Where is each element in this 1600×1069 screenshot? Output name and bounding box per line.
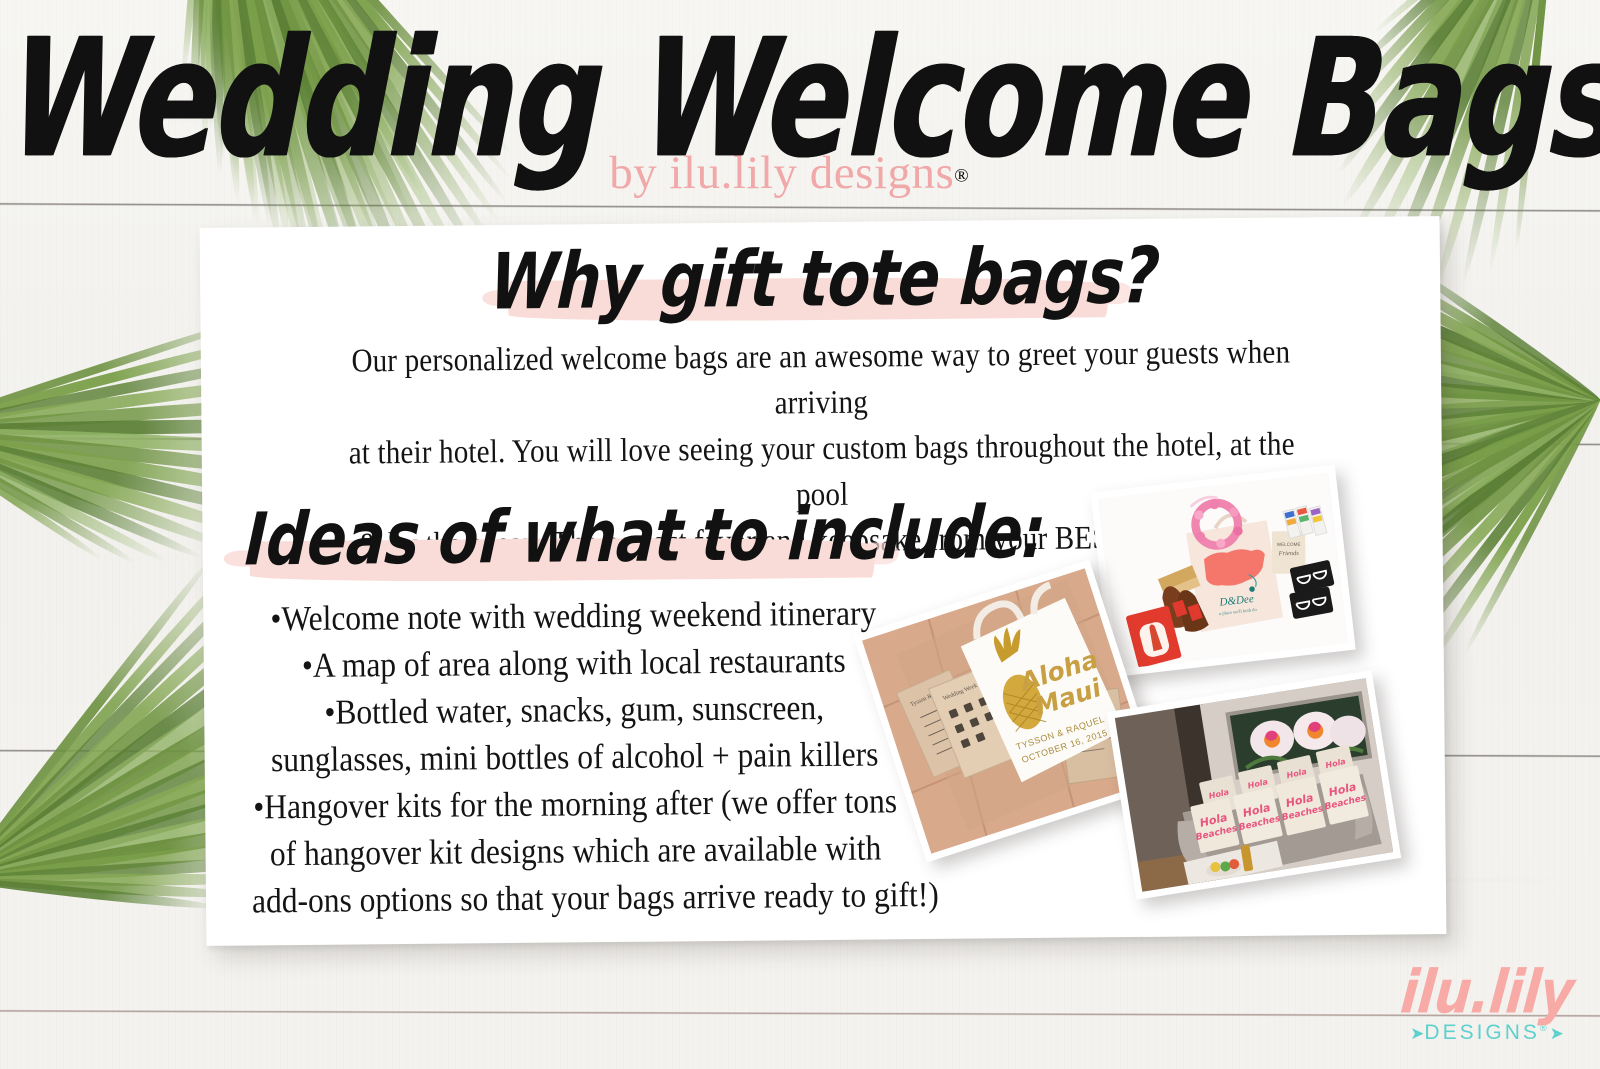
logo-script-text: ilu.lily — [1389, 963, 1584, 1023]
flat-lay-photo-graphic: D&Dee a place we'll both do WELCOME Frie… — [1098, 472, 1348, 669]
ilulily-logo[interactable]: ilu.lily ➤DESIGNS®➤ — [1392, 967, 1582, 1063]
intro-paragraph-line-1: Our personalized welcome bags are an awe… — [328, 329, 1314, 430]
section-heading-ideas: Ideas of what to include: — [227, 499, 928, 574]
section-heading-why-gift: Why gift tote bags? — [490, 239, 1151, 318]
registered-mark-icon: ® — [954, 166, 968, 187]
list-item: •Hangover kits for the morning after (we… — [251, 777, 899, 830]
poster-root: Wedding Welcome Bags by ilu.lily designs… — [0, 0, 1600, 1069]
brand-byline: by ilu.lily designs® — [0, 146, 1600, 200]
svg-text:Friends: Friends — [1278, 550, 1300, 557]
flat-lay-welcome-bag-photo: D&Dee a place we'll both do WELCOME Frie… — [1090, 465, 1355, 678]
ideas-list: •Welcome note with wedding weekend itine… — [249, 589, 900, 924]
list-item: •Bottled water, snacks, gum, sunscreen, — [250, 683, 898, 736]
list-item: •Welcome note with wedding weekend itine… — [249, 589, 897, 642]
brand-byline-text: by ilu.lily designs — [609, 147, 954, 199]
svg-text:WELCOME: WELCOME — [1277, 542, 1301, 547]
hola-beaches-photo-graphic: Hola Hola Hola Hola Hola Beaches Hola Be — [1115, 678, 1393, 892]
list-item: sunglasses, mini bottles of alcohol + pa… — [250, 730, 898, 783]
section-heading-ideas-text: Ideas of what to include: — [225, 489, 1048, 582]
list-item: of hangover kit designs which are availa… — [251, 824, 899, 877]
list-item: •A map of area along with local restaura… — [250, 636, 898, 689]
list-item: add-ons options so that your bags arrive… — [252, 871, 900, 924]
section-heading-why-gift-text: Why gift tote bags? — [487, 230, 1152, 328]
page-title: Wedding Welcome Bags — [0, 14, 1600, 145]
